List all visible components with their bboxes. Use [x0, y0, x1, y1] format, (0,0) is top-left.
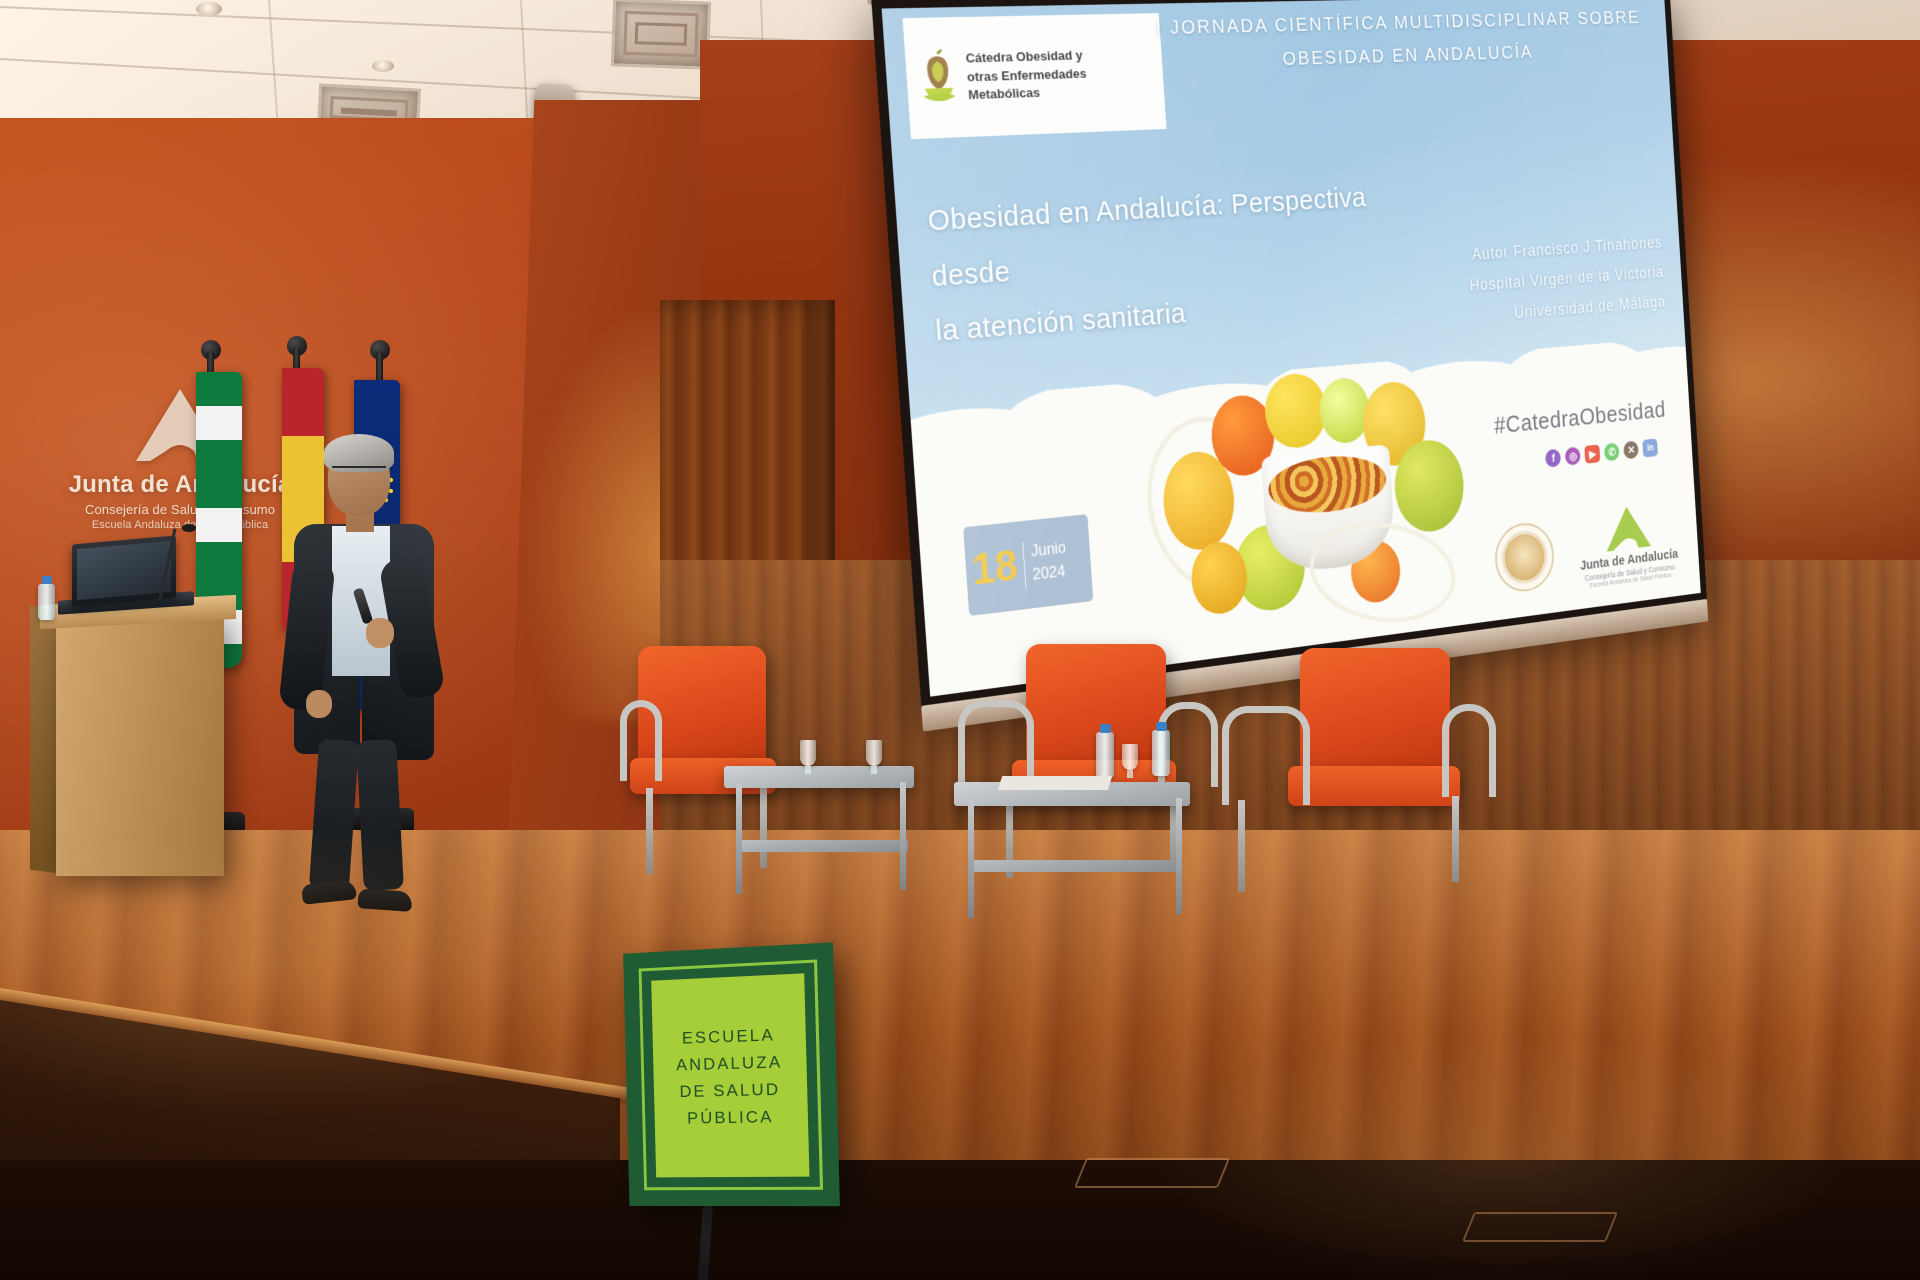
- catedra-obesidad-logo: Cátedra Obesidad y otras Enfermedades Me…: [902, 13, 1167, 139]
- youtube-icon[interactable]: ▶: [1585, 445, 1601, 464]
- granada-eagle-icon: [1503, 532, 1546, 583]
- drinking-glass: [1122, 744, 1138, 770]
- date-month-year: Junio 2024: [1022, 535, 1092, 589]
- catedra-line3: Metabólicas: [968, 82, 1089, 104]
- wall-logo-line2: Consejería de Salud y Consumo: [55, 502, 305, 517]
- ceiling-vent-icon: [611, 0, 711, 70]
- water-bottle: [38, 584, 55, 620]
- presentation-slide: Cátedra Obesidad y otras Enfermedades Me…: [882, 0, 1701, 697]
- house-floor: [0, 1160, 1920, 1280]
- food-photo: [1132, 341, 1506, 661]
- x-twitter-icon[interactable]: ✕: [1623, 441, 1639, 460]
- escuela-andaluza-de-salud-publica-sign: ESCUELA ANDALUZA DE SALUD PÚBLICA: [623, 942, 840, 1206]
- fruit-lime: [1317, 376, 1371, 445]
- sign-line-4: PÚBLICA: [687, 1107, 774, 1129]
- wall-logo-line1: Junta de Andalucía: [55, 471, 305, 499]
- linkedin-icon[interactable]: in: [1643, 439, 1659, 458]
- bottle-cap-icon: [1100, 724, 1111, 733]
- microphone-head-icon: [182, 524, 196, 532]
- facebook-icon[interactable]: f: [1545, 449, 1561, 468]
- fruit-salad-contents: [1267, 451, 1388, 518]
- water-bottle: [1096, 732, 1114, 778]
- drinking-glass: [800, 740, 816, 766]
- speaker-presenting: [280, 440, 440, 910]
- projection-screen: Cátedra Obesidad y otras Enfermedades Me…: [882, 0, 1701, 697]
- apple-book-icon: [914, 48, 962, 109]
- ceiling-downlight-icon: [196, 2, 222, 16]
- sign-line-1: ESCUELA: [682, 1025, 775, 1048]
- andalucia-arch-icon: [1602, 503, 1654, 554]
- sign-line-3: DE SALUD: [679, 1079, 780, 1101]
- paper-sheet: [998, 776, 1113, 790]
- sign-line-2: ANDALUZA: [676, 1052, 783, 1075]
- drinking-glass: [866, 740, 882, 766]
- catedra-line2: otras Enfermedades: [966, 65, 1087, 86]
- date-day: 18: [964, 544, 1025, 594]
- auditorium-photo: Junta de Andalucía Consejería de Salud y…: [0, 0, 1920, 1280]
- floor-hatch: [1462, 1212, 1618, 1242]
- junta-de-andalucia-logo: Junta de Andalucía Consejería de Salud y…: [1577, 500, 1680, 591]
- floor-hatch: [1074, 1158, 1230, 1188]
- bottle-cap-icon: [42, 576, 52, 584]
- bottle-cap-icon: [1156, 722, 1167, 731]
- instagram-icon[interactable]: ◎: [1565, 447, 1581, 466]
- wall-logo-line3: Escuela Andaluza de Salud Pública: [55, 519, 305, 531]
- wall-junta-de-andalucia-logo: Junta de Andalucía Consejería de Salud y…: [55, 385, 305, 531]
- date-badge: 18 Junio 2024: [963, 515, 1093, 617]
- catedra-logo-text: Cátedra Obesidad y otras Enfermedades Me…: [965, 47, 1088, 104]
- glasses-icon: [332, 466, 386, 480]
- whatsapp-icon[interactable]: ✆: [1604, 443, 1620, 462]
- water-bottle: [1152, 730, 1170, 776]
- ceiling-downlight-icon: [372, 60, 394, 72]
- universidad-de-granada-seal: [1493, 520, 1556, 595]
